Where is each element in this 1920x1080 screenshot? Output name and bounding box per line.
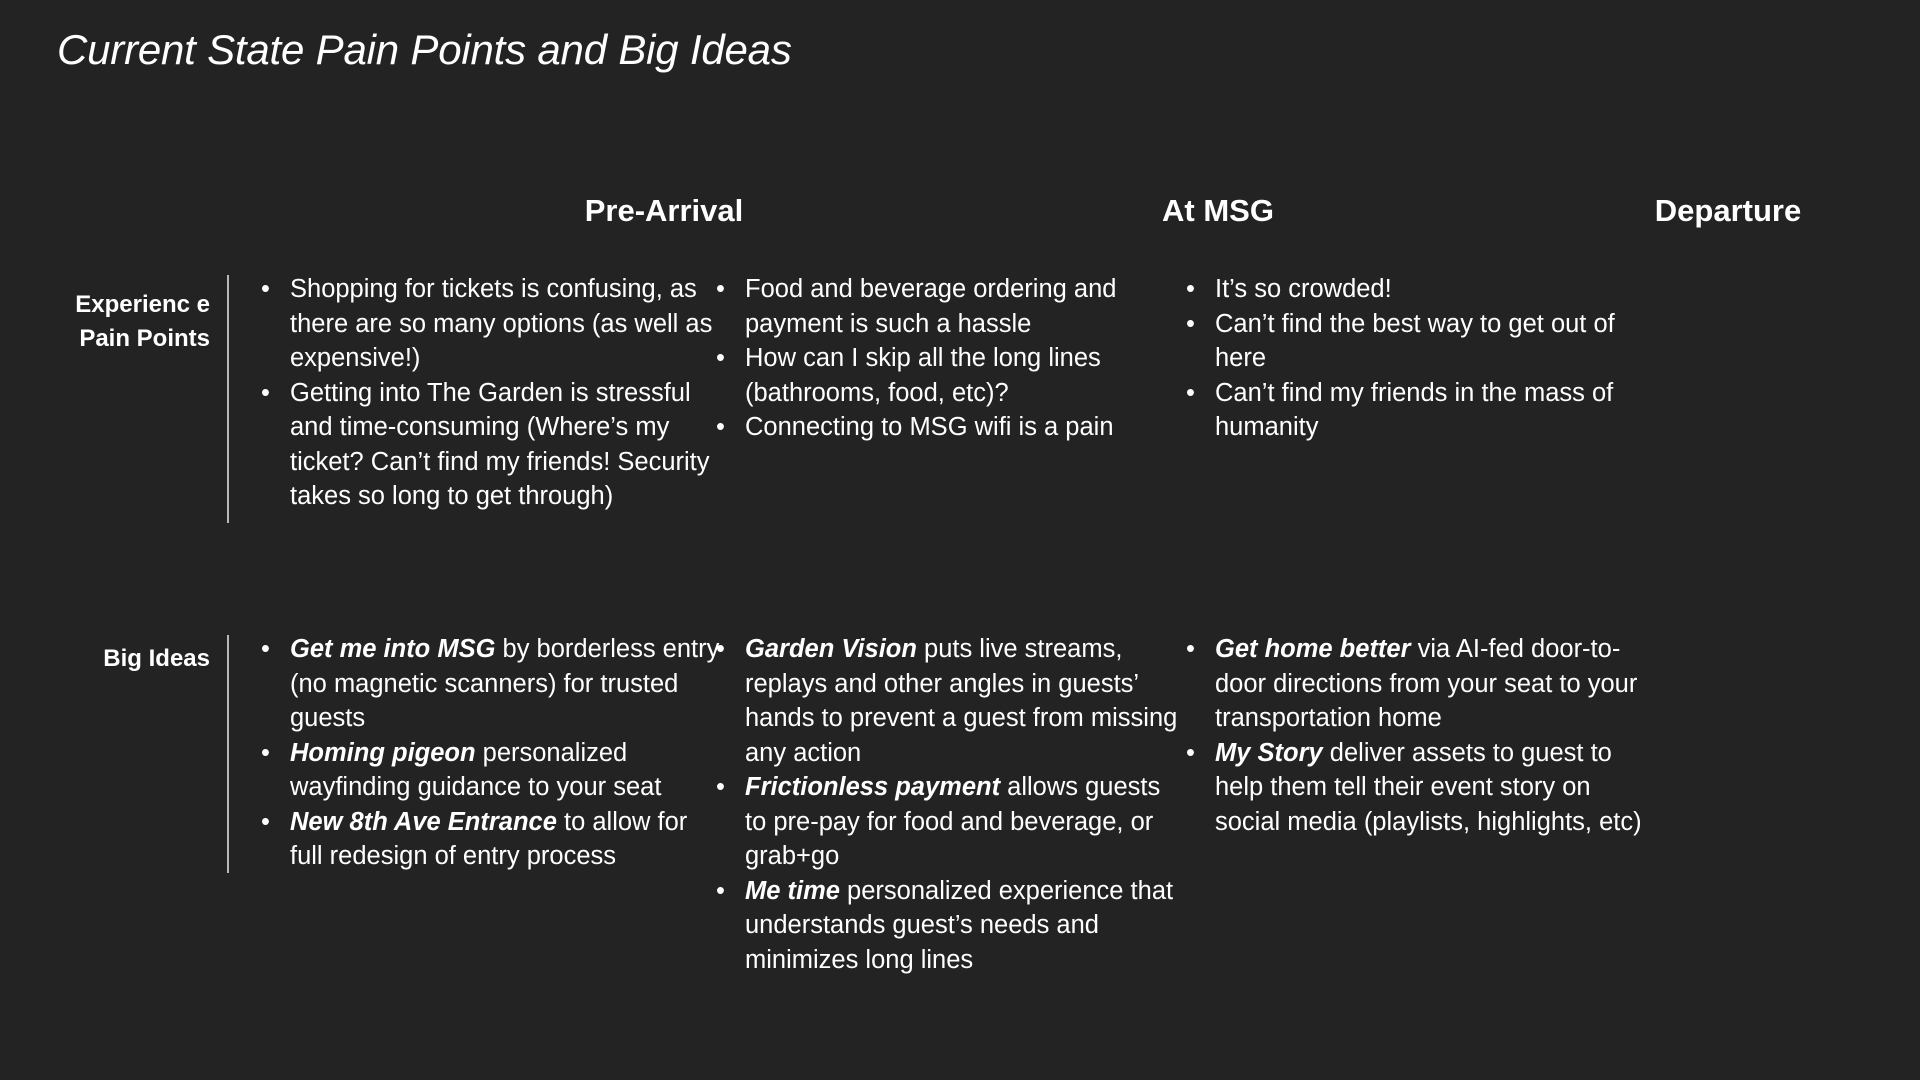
- list-item: New 8th Ave Entrance to allow for full r…: [255, 805, 725, 874]
- page-title: Current State Pain Points and Big Ideas: [57, 26, 792, 74]
- list-item: How can I skip all the long lines (bathr…: [710, 341, 1185, 410]
- list-item: Food and beverage ordering and payment i…: [710, 272, 1185, 341]
- bullet-lead-in: Me time: [745, 877, 840, 905]
- bullet-text: Food and beverage ordering and payment i…: [745, 275, 1116, 338]
- bullet-text: Can’t find my friends in the mass of hum…: [1215, 379, 1613, 442]
- list-item: Get me into MSG by borderless entry (no …: [255, 632, 725, 736]
- cell-pain-at-msg: Food and beverage ordering and payment i…: [710, 272, 1185, 445]
- cell-pain-departure: It’s so crowded!Can’t find the best way …: [1180, 272, 1660, 445]
- bullet-text: Shopping for tickets is confusing, as th…: [290, 275, 712, 372]
- list-item: Get home better via AI-fed door-to-door …: [1180, 632, 1660, 736]
- list-item: Can’t find my friends in the mass of hum…: [1180, 376, 1660, 445]
- slide-canvas: Current State Pain Points and Big Ideas …: [0, 0, 1920, 1080]
- bullet-lead-in: My Story: [1215, 739, 1323, 767]
- column-header-pre-arrival: Pre-Arrival: [514, 193, 814, 229]
- list-item: Garden Vision puts live streams, replays…: [710, 632, 1185, 770]
- row-label-experience-pain-points: Experienc e Pain Points: [30, 288, 210, 356]
- bullet-list: Get home better via AI-fed door-to-door …: [1180, 632, 1660, 839]
- cell-pain-pre-arrival: Shopping for tickets is confusing, as th…: [255, 272, 725, 514]
- column-header-departure: Departure: [1578, 193, 1878, 229]
- list-item: Getting into The Garden is stressful and…: [255, 376, 725, 514]
- bullet-lead-in: Garden Vision: [745, 635, 917, 663]
- list-item: Connecting to MSG wifi is a pain: [710, 410, 1185, 445]
- row-divider: [227, 635, 229, 873]
- bullet-text: Can’t find the best way to get out of he…: [1215, 310, 1615, 373]
- list-item: It’s so crowded!: [1180, 272, 1660, 307]
- bullet-text: Connecting to MSG wifi is a pain: [745, 413, 1114, 441]
- bullet-lead-in: New 8th Ave Entrance: [290, 808, 557, 836]
- bullet-list: Garden Vision puts live streams, replays…: [710, 632, 1185, 977]
- bullet-list: Food and beverage ordering and payment i…: [710, 272, 1185, 445]
- bullet-lead-in: Homing pigeon: [290, 739, 476, 767]
- list-item: Frictionless payment allows guests to pr…: [710, 770, 1185, 874]
- bullet-list: Get me into MSG by borderless entry (no …: [255, 632, 725, 874]
- cell-ideas-pre-arrival: Get me into MSG by borderless entry (no …: [255, 632, 725, 874]
- bullet-list: Shopping for tickets is confusing, as th…: [255, 272, 725, 514]
- bullet-text: It’s so crowded!: [1215, 275, 1392, 303]
- list-item: Me time personalized experience that und…: [710, 874, 1185, 978]
- bullet-lead-in: Frictionless payment: [745, 773, 1000, 801]
- column-header-at-msg: At MSG: [1068, 193, 1368, 229]
- list-item: Can’t find the best way to get out of he…: [1180, 307, 1660, 376]
- list-item: My Story deliver assets to guest to help…: [1180, 736, 1660, 840]
- cell-ideas-departure: Get home better via AI-fed door-to-door …: [1180, 632, 1660, 839]
- bullet-lead-in: Get home better: [1215, 635, 1411, 663]
- bullet-list: It’s so crowded!Can’t find the best way …: [1180, 272, 1660, 445]
- row-label-big-ideas: Big Ideas: [30, 642, 210, 676]
- bullet-text: Getting into The Garden is stressful and…: [290, 379, 710, 511]
- row-divider: [227, 275, 229, 523]
- column-header-row: Pre-Arrival At MSG Departure: [228, 193, 1888, 241]
- bullet-lead-in: Get me into MSG: [290, 635, 495, 663]
- list-item: Shopping for tickets is confusing, as th…: [255, 272, 725, 376]
- list-item: Homing pigeon personalized wayfinding gu…: [255, 736, 725, 805]
- bullet-text: How can I skip all the long lines (bathr…: [745, 344, 1101, 407]
- cell-ideas-at-msg: Garden Vision puts live streams, replays…: [710, 632, 1185, 977]
